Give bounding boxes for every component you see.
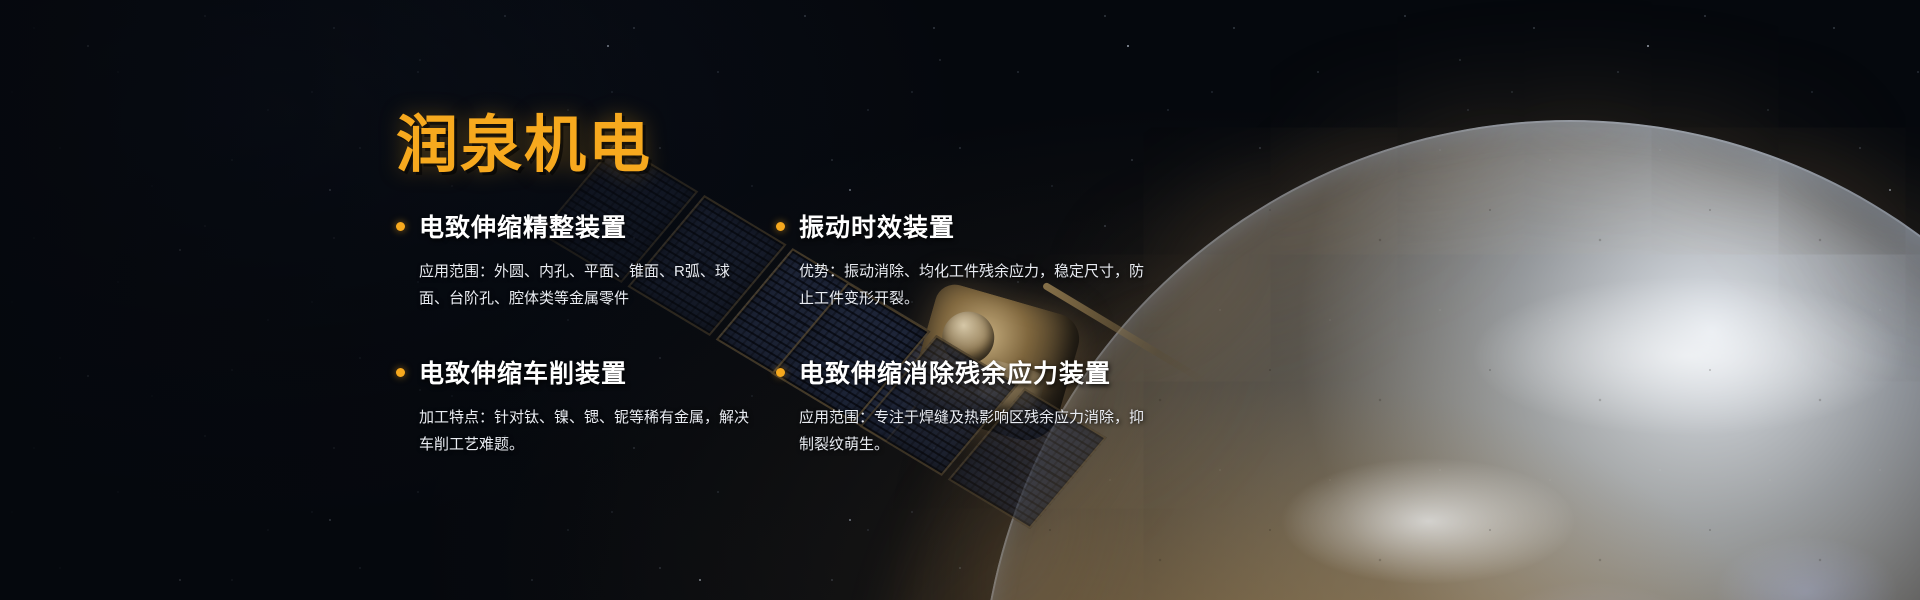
- feature-row-bottom: 电致伸缩车削装置 加工特点：针对钛、镍、锶、铌等稀有金属，解决车削工艺难题。 电…: [396, 354, 1156, 458]
- feature-item-vibration-aging: 振动时效装置 优势：振动消除、均化工件残余应力，稳定尺寸，防止工件变形开裂。: [776, 208, 1156, 312]
- feature-heading: 电致伸缩车削装置: [396, 354, 776, 390]
- feature-title: 振动时效装置: [799, 208, 955, 244]
- brand-title: 润泉机电: [396, 94, 652, 184]
- feature-item-electrostrictive-turning: 电致伸缩车削装置 加工特点：针对钛、镍、锶、铌等稀有金属，解决车削工艺难题。: [396, 354, 776, 458]
- feature-title: 电致伸缩车削装置: [419, 354, 627, 390]
- feature-row-spacer: [396, 312, 1156, 354]
- feature-item-residual-stress-relief: 电致伸缩消除残余应力装置 应用范围：专注于焊缝及热影响区残余应力消除，抑制裂纹萌…: [776, 354, 1156, 458]
- feature-heading: 电致伸缩消除残余应力装置: [776, 354, 1156, 390]
- bullet-dot-icon: [776, 368, 785, 377]
- bullet-dot-icon: [396, 368, 405, 377]
- feature-description: 加工特点：针对钛、镍、锶、铌等稀有金属，解决车削工艺难题。: [419, 404, 749, 458]
- feature-description: 应用范围：专注于焊缝及热影响区残余应力消除，抑制裂纹萌生。: [799, 404, 1144, 458]
- feature-heading: 振动时效装置: [776, 208, 1156, 244]
- feature-description: 应用范围：外圆、内孔、平面、锥面、R弧、球面、台阶孔、腔体类等金属零件: [419, 258, 749, 312]
- feature-title: 电致伸缩精整装置: [419, 208, 627, 244]
- feature-row-top: 电致伸缩精整装置 应用范围：外圆、内孔、平面、锥面、R弧、球面、台阶孔、腔体类等…: [396, 208, 1156, 312]
- banner-content: 润泉机电 电致伸缩精整装置 应用范围：外圆、内孔、平面、锥面、R弧、球面、台阶孔…: [0, 0, 1920, 600]
- bullet-dot-icon: [776, 222, 785, 231]
- feature-item-electrostrictive-finishing: 电致伸缩精整装置 应用范围：外圆、内孔、平面、锥面、R弧、球面、台阶孔、腔体类等…: [396, 208, 776, 312]
- feature-heading: 电致伸缩精整装置: [396, 208, 776, 244]
- feature-description: 优势：振动消除、均化工件残余应力，稳定尺寸，防止工件变形开裂。: [799, 258, 1144, 312]
- feature-title: 电致伸缩消除残余应力装置: [799, 354, 1111, 390]
- hero-banner: 润泉机电 电致伸缩精整装置 应用范围：外圆、内孔、平面、锥面、R弧、球面、台阶孔…: [0, 0, 1920, 600]
- feature-grid: 电致伸缩精整装置 应用范围：外圆、内孔、平面、锥面、R弧、球面、台阶孔、腔体类等…: [396, 208, 1156, 458]
- bullet-dot-icon: [396, 222, 405, 231]
